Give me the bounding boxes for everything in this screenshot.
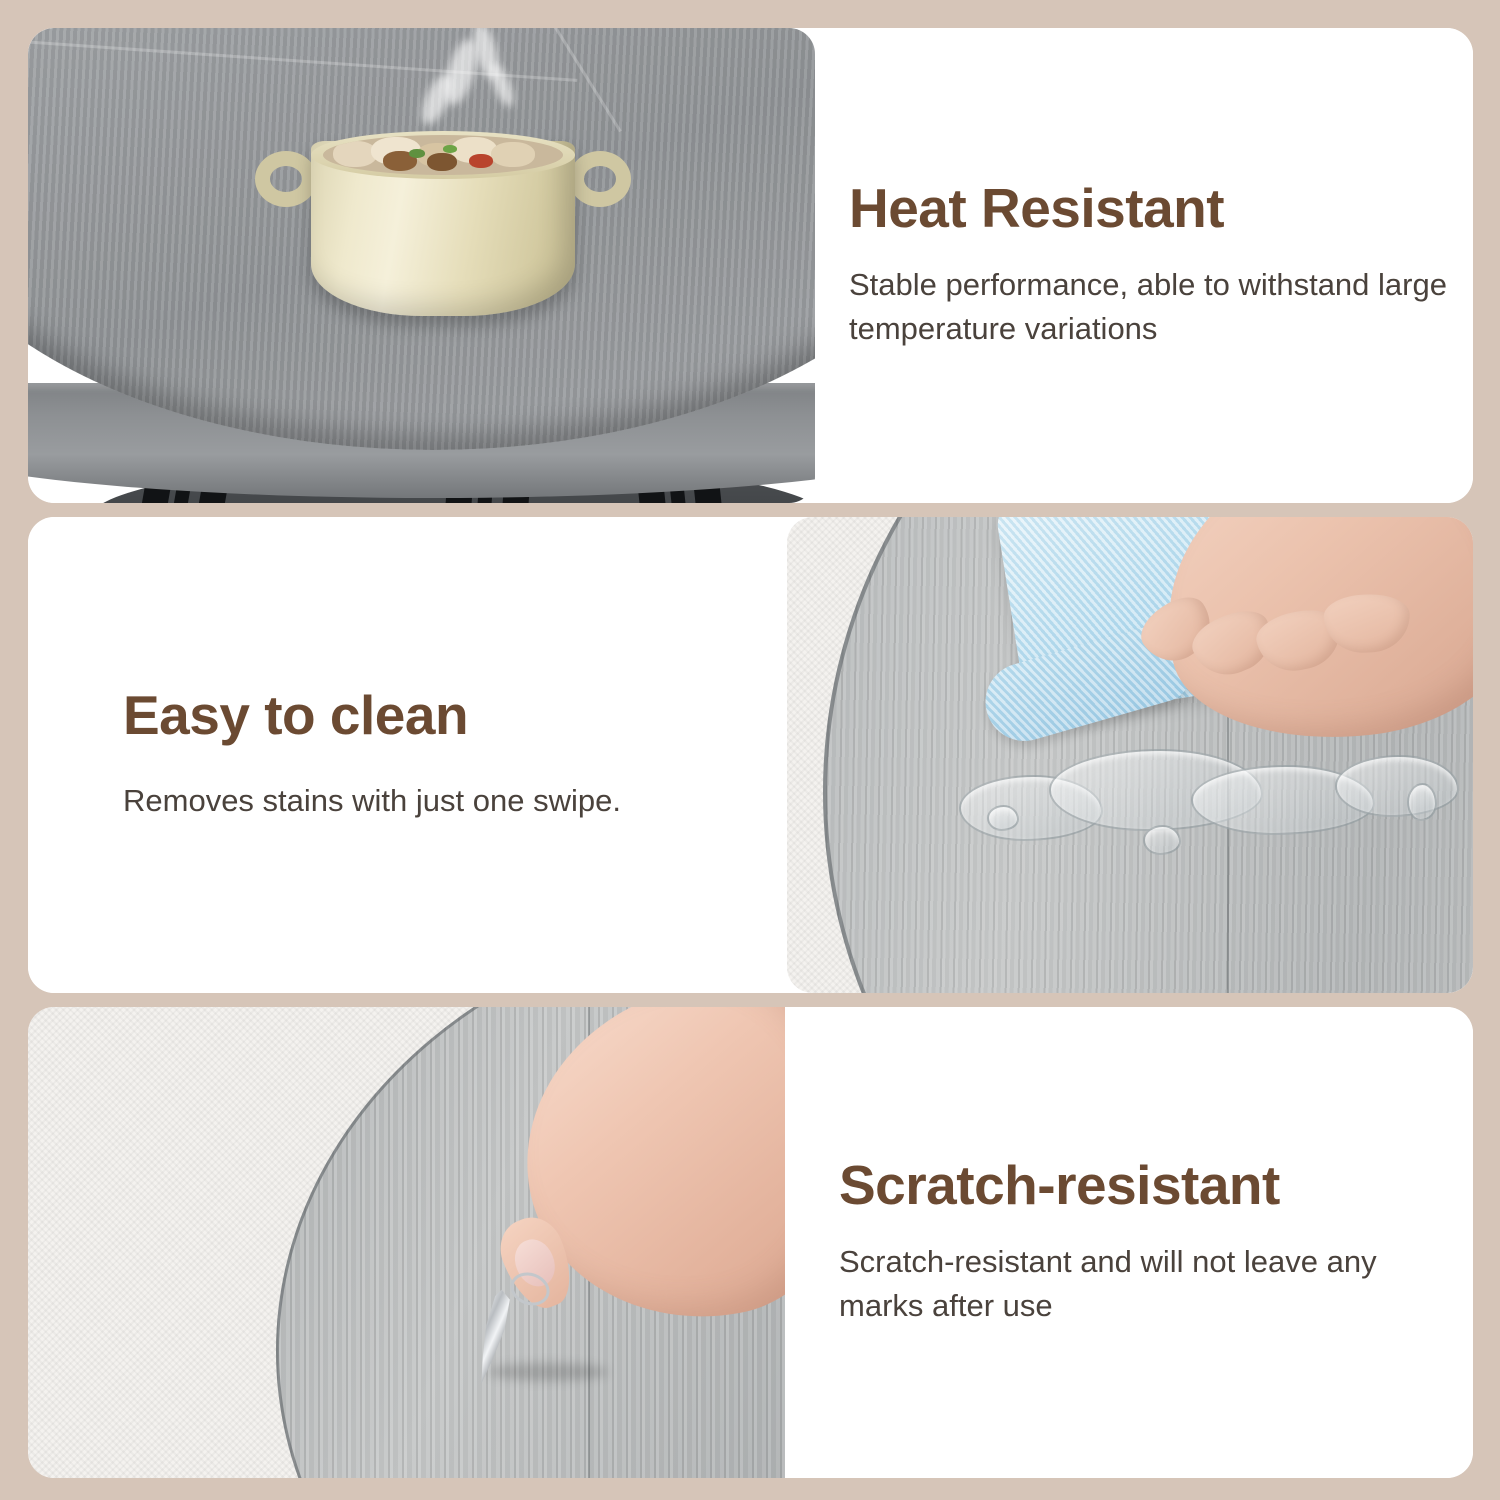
pot-handle-left [255,151,317,207]
feature-card-easy-to-clean: Easy to clean Removes stains with just o… [28,517,1473,993]
feature-text-heat-resistant: Heat Resistant Stable performance, able … [815,28,1473,503]
infographic-page: Heat Resistant Stable performance, able … [0,0,1500,1500]
feature-description: Removes stains with just one swipe. [123,779,723,823]
water-droplet [987,805,1019,831]
feature-card-scratch-resistant: Scratch-resistant Scratch-resistant and … [28,1007,1473,1478]
feature-image-easy-to-clean [787,517,1473,993]
stew-contents [323,135,563,175]
feature-image-scratch-resistant [28,1007,813,1478]
ceramic-pot [283,123,603,323]
water-droplet [1407,783,1437,821]
feature-card-heat-resistant: Heat Resistant Stable performance, able … [28,28,1473,503]
pot-handle-right [569,151,631,207]
water-droplet [1143,825,1181,855]
feature-heading: Scratch-resistant [839,1157,1473,1215]
feature-text-scratch-resistant: Scratch-resistant Scratch-resistant and … [785,1007,1473,1478]
feature-heading: Easy to clean [123,687,788,745]
feature-text-easy-to-clean: Easy to clean Removes stains with just o… [28,517,788,993]
water-droplet [1335,755,1459,817]
feature-description: Scratch-resistant and will not leave any… [839,1240,1439,1328]
feature-image-heat-resistant [28,28,815,503]
feature-heading: Heat Resistant [849,180,1473,238]
feature-description: Stable performance, able to withstand la… [849,263,1449,351]
